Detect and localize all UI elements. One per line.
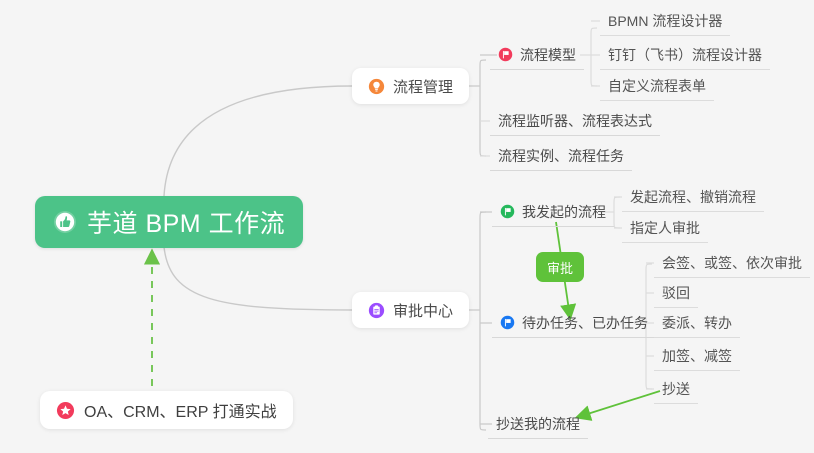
thumbs-up-icon	[53, 210, 77, 234]
flag-icon	[498, 47, 513, 62]
branch-process-management[interactable]: 流程管理	[352, 68, 469, 104]
branch-label: 审批中心	[393, 300, 453, 321]
leaf-label: 抄送	[662, 379, 690, 399]
leaf-label: BPMN 流程设计器	[608, 11, 722, 31]
root-label: 芋道 BPM 工作流	[87, 204, 285, 240]
leaf-label: 加签、减签	[662, 346, 732, 366]
node-label: 流程实例、流程任务	[498, 146, 624, 166]
wire-root-to-process-management	[164, 86, 352, 196]
leaf-label: 发起流程、撤销流程	[630, 187, 756, 207]
node-label: 抄送我的流程	[496, 414, 580, 434]
node-label: 流程监听器、流程表达式	[498, 111, 652, 131]
leaf-dingtalk-feishu-designer[interactable]: 钉钉（飞书）流程设计器	[600, 40, 770, 70]
node-label: 待办任务、已办任务	[522, 313, 648, 333]
mindmap-canvas: 芋道 BPM 工作流 流程管理 流程模型 BPMN 流程设计器 钉钉（飞书）流程	[0, 0, 814, 453]
node-todo-done-tasks[interactable]: 待办任务、已办任务	[492, 308, 656, 338]
node-process-instance-task[interactable]: 流程实例、流程任务	[490, 141, 632, 171]
leaf-label: 自定义流程表单	[608, 76, 706, 96]
branch-approval-center[interactable]: 审批中心	[352, 292, 469, 328]
leaf-label: 驳回	[662, 283, 690, 303]
wire-model-trunk	[591, 28, 597, 86]
annotation-integration-note[interactable]: OA、CRM、ERP 打通实战	[40, 391, 293, 429]
leaf-designated-approver[interactable]: 指定人审批	[622, 213, 708, 243]
leaf-label: 会签、或签、依次审批	[662, 253, 802, 273]
wire-mine-trunk	[614, 197, 620, 228]
note-label: OA、CRM、ERP 打通实战	[84, 398, 277, 422]
node-label: 流程模型	[520, 45, 576, 65]
leaf-custom-process-form[interactable]: 自定义流程表单	[600, 71, 714, 101]
leaf-delegate-transfer[interactable]: 委派、转办	[654, 308, 740, 338]
arrow-cc-to-cc-flow	[578, 391, 660, 417]
wire-pm-trunk	[480, 60, 486, 156]
node-process-listener-expression[interactable]: 流程监听器、流程表达式	[490, 106, 660, 136]
wire-root-to-approval-center	[164, 247, 352, 310]
lightbulb-icon	[368, 78, 385, 95]
leaf-cc[interactable]: 抄送	[654, 374, 698, 404]
leaf-reject[interactable]: 驳回	[654, 278, 698, 308]
leaf-label: 钉钉（飞书）流程设计器	[608, 45, 762, 65]
clipboard-icon	[368, 302, 385, 319]
node-process-model[interactable]: 流程模型	[490, 40, 584, 70]
leaf-label: 委派、转办	[662, 313, 732, 333]
root-node[interactable]: 芋道 BPM 工作流	[35, 196, 303, 248]
leaf-countersign-orsign-sequential[interactable]: 会签、或签、依次审批	[654, 248, 810, 278]
node-my-initiated-process[interactable]: 我发起的流程	[492, 197, 614, 227]
star-icon	[56, 401, 75, 420]
leaf-start-cancel-process[interactable]: 发起流程、撤销流程	[622, 182, 764, 212]
leaf-add-remove-sign[interactable]: 加签、减签	[654, 341, 740, 371]
node-cc-to-me-process[interactable]: 抄送我的流程	[488, 409, 588, 439]
wire-ac-trunk	[480, 212, 486, 430]
flag-icon	[500, 204, 515, 219]
flag-icon	[500, 315, 515, 330]
node-label: 我发起的流程	[522, 202, 606, 222]
leaf-label: 指定人审批	[630, 218, 700, 238]
badge-label: 审批	[547, 258, 573, 277]
branch-label: 流程管理	[393, 76, 453, 97]
leaf-bpmn-designer[interactable]: BPMN 流程设计器	[600, 6, 730, 36]
annotation-approve-badge: 审批	[536, 252, 584, 282]
